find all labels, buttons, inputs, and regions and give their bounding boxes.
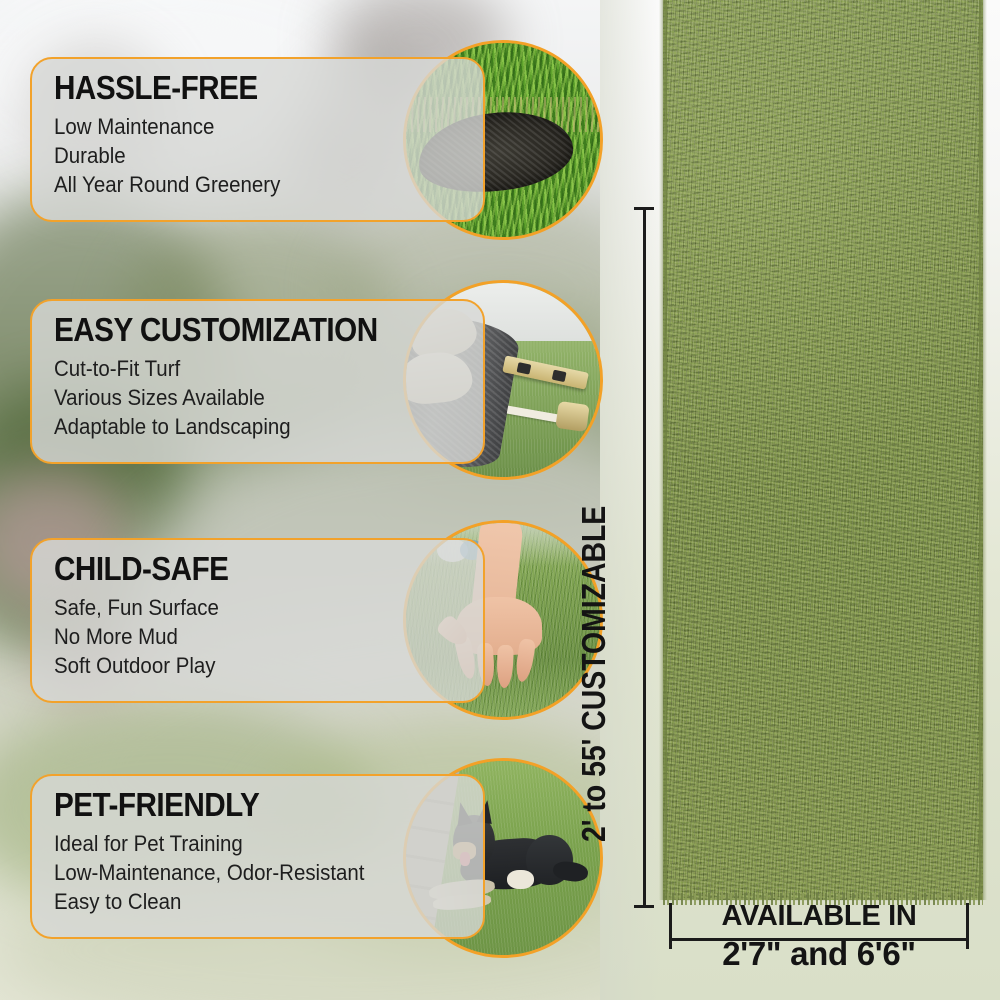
feature-card-pet-friendly: PET-FRIENDLY Ideal for Pet Training Low-… [30, 774, 485, 939]
available-sizes-block: AVAILABLE IN 2'7" and 6'6" [660, 902, 978, 970]
product-feature-infographic: HASSLE-FREE Low Maintenance Durable All … [0, 0, 1000, 1000]
feature-card-hassle-free: HASSLE-FREE Low Maintenance Durable All … [30, 57, 485, 222]
feature-bullet: Safe, Fun Surface [54, 593, 434, 622]
feature-card-child-safe: CHILD-SAFE Safe, Fun Surface No More Mud… [30, 538, 485, 703]
feature-bullet: Soft Outdoor Play [54, 651, 434, 680]
turf-right-edge [979, 0, 987, 900]
feature-bullet: All Year Round Greenery [54, 170, 434, 199]
available-sizes: 2'7" and 6'6" [660, 937, 978, 970]
feature-title: HASSLE-FREE [54, 71, 422, 106]
feature-bullet: Low-Maintenance, Odor-Resistant [54, 858, 434, 887]
feature-bullet: Durable [54, 141, 434, 170]
turf-texture-overlay [663, 0, 983, 900]
vertical-dimension-label-wrap: 2' to 55' CUSTOMIZABLE [566, 212, 622, 852]
vertical-dimension-line [643, 208, 646, 908]
turf-roll-strip-photo [663, 0, 983, 900]
vertical-dimension-label: 2' to 55' CUSTOMIZABLE [575, 506, 613, 842]
dog-chest-marking [507, 870, 534, 889]
turf-left-edge [659, 0, 667, 900]
feature-title: PET-FRIENDLY [54, 788, 422, 823]
feature-card-easy-customization: EASY CUSTOMIZATION Cut-to-Fit Turf Vario… [30, 299, 485, 464]
feature-title: CHILD-SAFE [54, 552, 422, 587]
feature-bullet: Low Maintenance [54, 112, 434, 141]
vertical-dimension-tick-bottom [634, 905, 654, 908]
feature-bullet: Ideal for Pet Training [54, 829, 434, 858]
feature-bullet: Adaptable to Landscaping [54, 412, 434, 441]
feature-bullet: Easy to Clean [54, 887, 434, 916]
available-heading: AVAILABLE IN [660, 902, 978, 931]
feature-bullet: Cut-to-Fit Turf [54, 354, 434, 383]
feature-bullet: No More Mud [54, 622, 434, 651]
feature-title: EASY CUSTOMIZATION [54, 313, 422, 348]
feature-bullet: Various Sizes Available [54, 383, 434, 412]
